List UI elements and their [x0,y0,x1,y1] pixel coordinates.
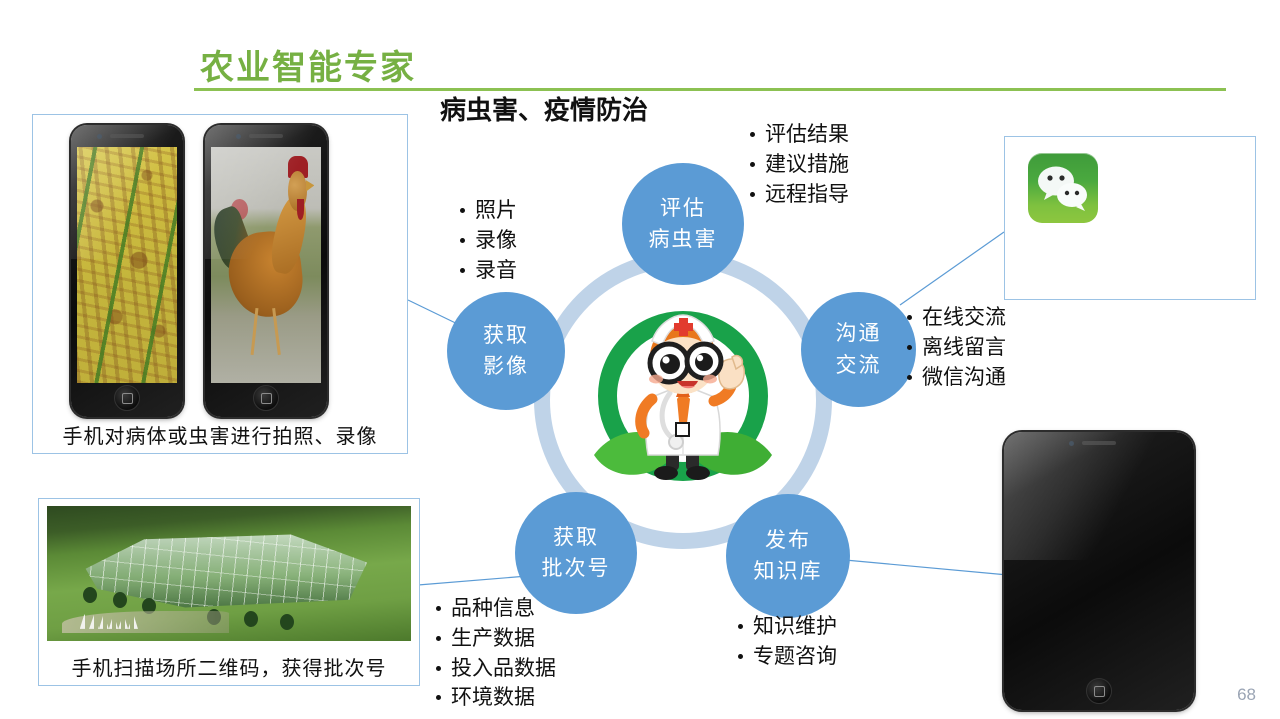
bullet-item: 微信沟通 [905,363,1006,393]
section-title: 病虫害、疫情防治 [440,90,648,127]
bullet-item: 生产数据 [434,624,556,654]
capture-photos-caption: 手机对病体或虫害进行拍照、录像 [33,420,407,449]
node-batch-line1: 获取 [553,522,599,554]
node-assess-line2: 病虫害 [649,224,718,256]
apps-panel [1004,136,1256,300]
phone-knowledge: 主要绿肥品种的栽培特性如何? 哪些肥料可以混合施用? 抚育间伐强度有哪些硬性指标… [1004,432,1194,710]
phone-home-button[interactable] [253,385,279,411]
bullet-item: 照片 [458,196,517,226]
phone-camera-icon [236,134,241,139]
node-communicate-line1: 沟通 [836,318,882,350]
phone-speaker [249,134,283,138]
bullet-item: 知识维护 [736,612,837,642]
greenhouse-aerial-photo [47,506,411,641]
qr-batch-caption: 手机扫描场所二维码，获得批次号 [39,652,419,681]
node-capture-line1: 获取 [483,320,529,352]
bullet-item: 专题咨询 [736,642,837,672]
node-communicate[interactable]: 沟通 交流 [801,292,916,407]
agriculture-doctor-mascot-logo [586,305,781,500]
bullet-item: 离线留言 [905,333,1006,363]
bullet-item: 环境数据 [434,683,556,713]
bullet-item: 录音 [458,256,517,286]
node-publish[interactable]: 发布 知识库 [726,494,850,618]
phone-right-screen [211,147,321,383]
bullets-capture: 照片 录像 录音 [458,196,517,285]
bullet-item: 评估结果 [748,120,849,150]
node-assess[interactable]: 评估 病虫害 [622,163,744,285]
phone-speaker [1082,441,1116,445]
page-number: 68 [1237,685,1256,705]
qr-batch-panel: 手机扫描场所二维码，获得批次号 [38,498,420,686]
phone-camera-icon [97,134,102,139]
title-divider [194,88,1226,91]
diseased-leaf-photo [77,147,177,383]
bullets-communicate: 在线交流 离线留言 微信沟通 [905,303,1006,392]
bullets-batch: 品种信息 生产数据 投入品数据 环境数据 [434,594,556,713]
phone-left-screen [77,147,177,383]
mascot-figure [586,305,781,500]
node-publish-line2: 知识库 [754,556,823,588]
node-batch-line2: 批次号 [542,553,611,585]
node-publish-line1: 发布 [765,525,811,557]
phone-speaker [110,134,144,138]
node-capture-line2: 影像 [483,351,529,383]
node-communicate-line2: 交流 [836,350,882,382]
bullet-item: 建议措施 [748,150,849,180]
rooster-photo [211,147,321,383]
phone-right [205,125,327,417]
bullets-publish: 知识维护 专题咨询 [736,612,837,672]
bullet-item: 远程指导 [748,180,849,210]
wechat-icon[interactable] [1028,153,1098,223]
phone-left [71,125,183,417]
phone-home-button[interactable] [114,385,140,411]
bullets-assess: 评估结果 建议措施 远程指导 [748,120,849,209]
node-capture[interactable]: 获取 影像 [447,292,565,410]
bullet-item: 品种信息 [434,594,556,624]
bullet-item: 投入品数据 [434,654,556,684]
phone-home-button[interactable] [1086,678,1112,704]
phone-glare [1004,432,1194,560]
bullet-item: 录像 [458,226,517,256]
page-title: 农业智能专家 [200,40,416,89]
slide-root: 农业智能专家 病虫害、疫情防治 [0,0,1280,719]
phone-camera-icon [1069,441,1074,446]
greenhouse-photo-wrap [47,506,411,641]
node-assess-line1: 评估 [660,193,706,225]
capture-photos-panel: 手机对病体或虫害进行拍照、录像 [32,114,408,454]
bullet-item: 在线交流 [905,303,1006,333]
